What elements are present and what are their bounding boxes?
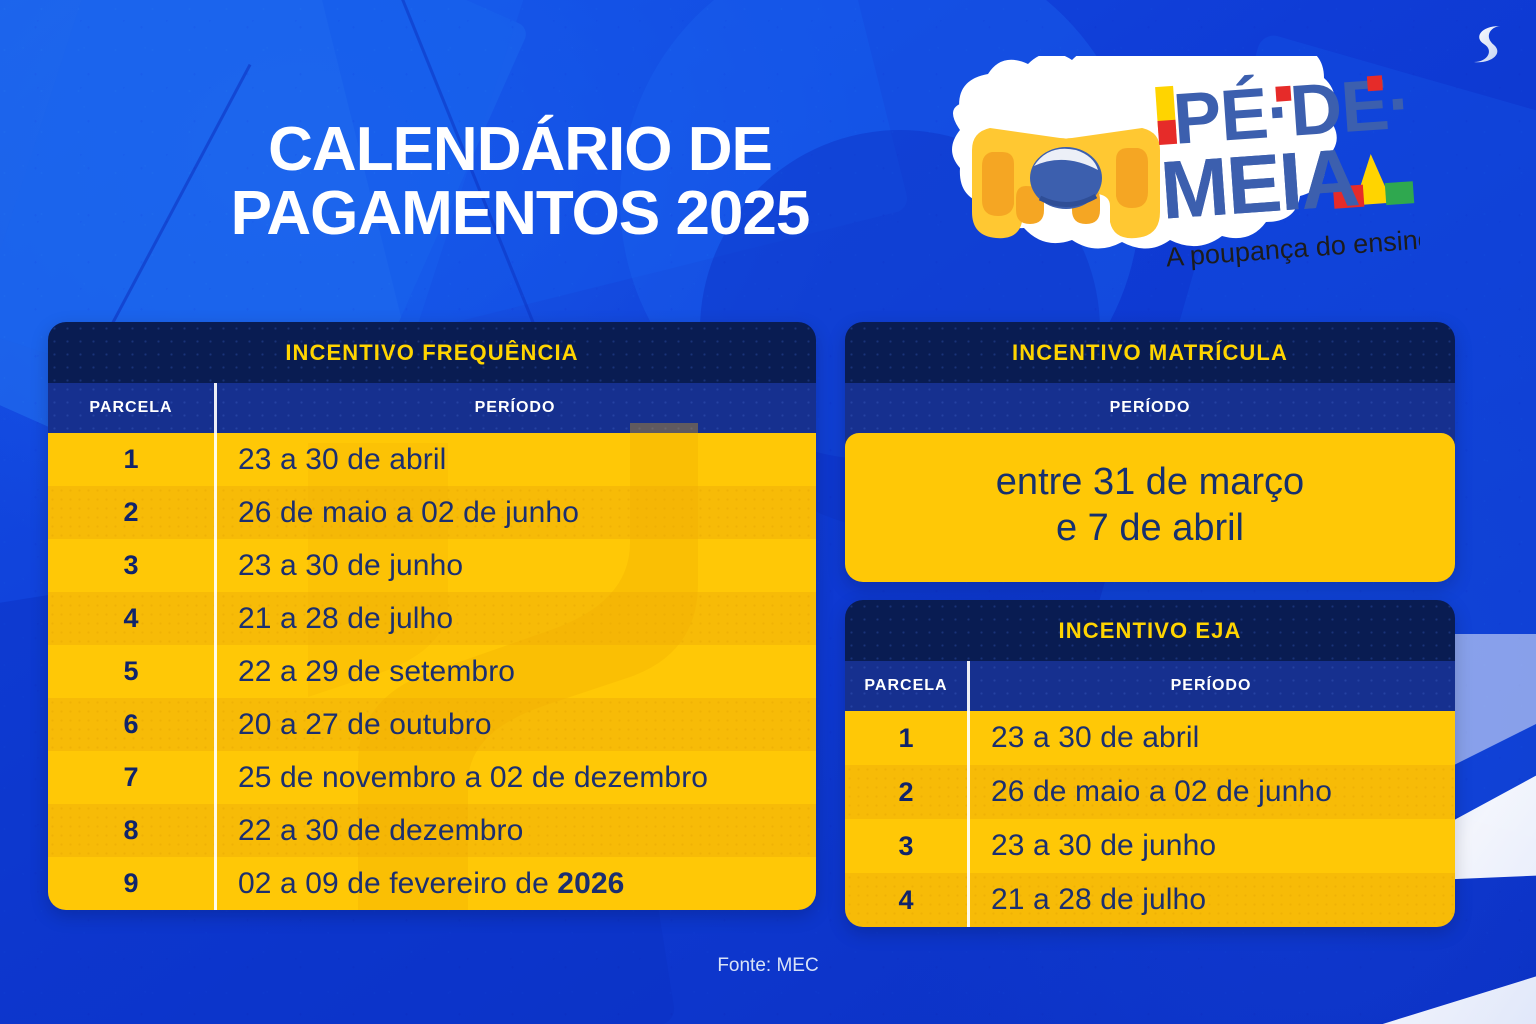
column-header-periodo: PERÍODO <box>845 383 1455 433</box>
pe-de-meia-logo: PÉ·DE· MEIA MEIA A poupança do ensino mé… <box>930 56 1420 296</box>
table-column-headers: PERÍODO <box>845 383 1455 433</box>
page-title-line-1: CALENDÁRIO DE <box>268 115 772 184</box>
cell-parcela: 6 <box>48 709 214 740</box>
cell-parcela: 1 <box>48 444 214 475</box>
pe-de-meia-logo-icon: PÉ·DE· MEIA MEIA A poupança do ensino mé… <box>930 56 1420 296</box>
cell-parcela: 7 <box>48 762 214 793</box>
cell-periodo: 23 a 30 de junho <box>214 549 816 583</box>
table-column-headers: PARCELA PERÍODO <box>48 383 816 433</box>
table-title: INCENTIVO MATRÍCULA <box>845 322 1455 383</box>
cell-periodo: 20 a 27 de outubro <box>214 708 816 742</box>
column-header-periodo: PERÍODO <box>214 383 816 433</box>
table-body: 1 23 a 30 de abril 2 26 de maio a 02 de … <box>845 711 1455 927</box>
cell-parcela: 5 <box>48 656 214 687</box>
column-divider <box>967 711 970 765</box>
cell-periodo: 26 de maio a 02 de junho <box>967 775 1455 809</box>
column-divider <box>967 819 970 873</box>
cell-periodo: 26 de maio a 02 de junho <box>214 496 816 530</box>
cell-periodo-year: 2026 <box>557 867 624 900</box>
cell-periodo: 22 a 30 de dezembro <box>214 814 816 848</box>
cell-parcela: 3 <box>48 550 214 581</box>
source-note: Fonte: MEC <box>0 955 1536 977</box>
table-row: 2 26 de maio a 02 de junho <box>845 765 1455 819</box>
table-incentivo-eja: INCENTIVO EJA PARCELA PERÍODO 1 23 a 30 … <box>845 600 1455 927</box>
table-row: 9 02 a 09 de fevereiro de 2026 <box>48 857 816 910</box>
cell-periodo: 21 a 28 de julho <box>967 883 1455 917</box>
page-title-line-2: PAGAMENTOS 2025 <box>140 182 900 246</box>
column-header-periodo: PERÍODO <box>967 661 1455 711</box>
table-incentivo-matricula: INCENTIVO MATRÍCULA PERÍODO entre 31 de … <box>845 322 1455 582</box>
column-header-parcela: PARCELA <box>845 661 967 711</box>
table-row: 1 23 a 30 de abril <box>48 433 816 486</box>
matricula-period-value: entre 31 de março e 7 de abril <box>845 433 1455 582</box>
matricula-value-wrap: entre 31 de março e 7 de abril <box>845 433 1455 582</box>
table-row: 7 25 de novembro a 02 de dezembro <box>48 751 816 804</box>
header: CALENDÁRIO DE PAGAMENTOS 2025 <box>0 0 1536 310</box>
cell-periodo: 25 de novembro a 02 de dezembro <box>214 761 816 795</box>
table-title: INCENTIVO EJA <box>845 600 1455 661</box>
table-body: 1 23 a 30 de abril 2 26 de maio a 02 de … <box>48 433 816 910</box>
table-row: 4 21 a 28 de julho <box>845 873 1455 927</box>
cell-periodo: 02 a 09 de fevereiro de 2026 <box>214 867 816 901</box>
brand-s-logo-icon <box>1468 18 1508 70</box>
cell-parcela: 1 <box>845 723 967 754</box>
column-divider <box>214 383 217 433</box>
cell-parcela: 4 <box>48 603 214 634</box>
svg-text:MEIA: MEIA <box>1158 132 1362 237</box>
cell-parcela: 4 <box>845 885 967 916</box>
table-row: 2 26 de maio a 02 de junho <box>48 486 816 539</box>
column-header-parcela: PARCELA <box>48 383 214 433</box>
table-row: 8 22 a 30 de dezembro <box>48 804 816 857</box>
cell-periodo: 23 a 30 de junho <box>967 829 1455 863</box>
cell-periodo: 22 a 29 de setembro <box>214 655 816 689</box>
cell-periodo: 21 a 28 de julho <box>214 602 816 636</box>
table-incentivo-frequencia: INCENTIVO FREQUÊNCIA PARCELA PERÍODO 1 2… <box>48 322 816 910</box>
column-divider <box>967 765 970 819</box>
table-row: 4 21 a 28 de julho <box>48 592 816 645</box>
cell-parcela: 9 <box>48 868 214 899</box>
cell-periodo: 23 a 30 de abril <box>967 721 1455 755</box>
table-title: INCENTIVO FREQUÊNCIA <box>48 322 816 383</box>
table-column-headers: PARCELA PERÍODO <box>845 661 1455 711</box>
cell-parcela: 8 <box>48 815 214 846</box>
matricula-period-line-2: e 7 de abril <box>1056 507 1244 549</box>
table-row: 5 22 a 29 de setembro <box>48 645 816 698</box>
table-row: 3 23 a 30 de junho <box>845 819 1455 873</box>
cell-parcela: 2 <box>845 777 967 808</box>
column-divider <box>967 873 970 927</box>
cell-parcela: 3 <box>845 831 967 862</box>
page-title: CALENDÁRIO DE PAGAMENTOS 2025 <box>140 118 900 246</box>
table-row: 1 23 a 30 de abril <box>845 711 1455 765</box>
matricula-period-line-1: entre 31 de março <box>996 461 1304 503</box>
table-row: 3 23 a 30 de junho <box>48 539 816 592</box>
table-row: 6 20 a 27 de outubro <box>48 698 816 751</box>
column-divider <box>967 661 970 711</box>
cell-periodo: 23 a 30 de abril <box>214 443 816 477</box>
cell-periodo-text: 02 a 09 de fevereiro de <box>238 867 557 900</box>
cell-parcela: 2 <box>48 497 214 528</box>
